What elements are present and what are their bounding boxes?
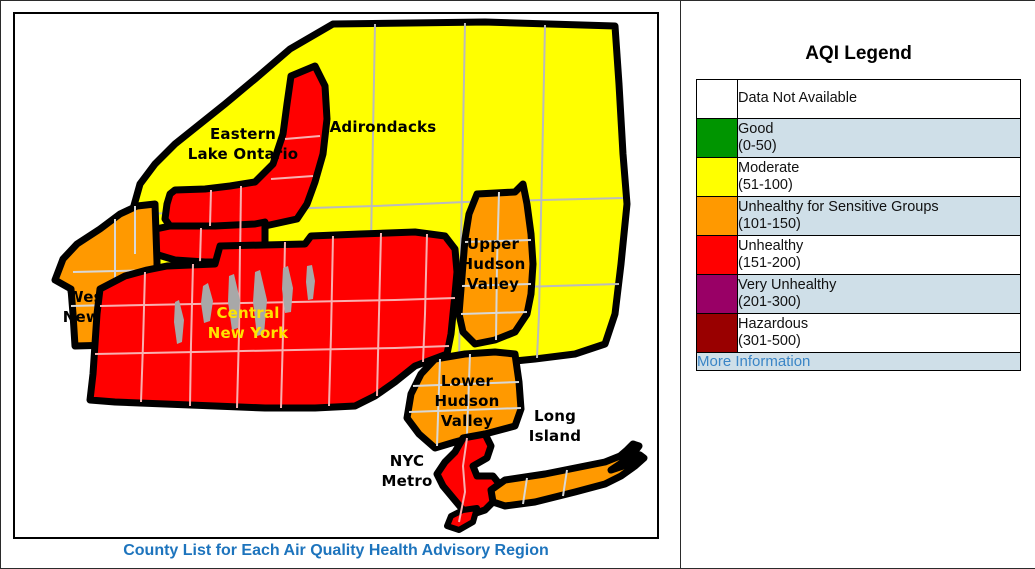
legend-range-good: (0-50) (738, 138, 1020, 156)
new-york-aqi-map[interactable]: Adirondacks Eastern Lake Ontario (15, 14, 657, 537)
county-list-link[interactable]: County List for Each Air Quality Health … (123, 542, 549, 559)
legend-swatch-moderate (697, 158, 738, 197)
legend-swatch-good (697, 119, 738, 158)
legend-desc-unhealthy: Unhealthy (151-200) (738, 236, 1021, 275)
legend-range-unhealthy-sensitive: (101-150) (738, 216, 1020, 234)
legend-swatch-data-not-available (697, 80, 738, 119)
lower-hudson-valley-label-line1: Lower (441, 372, 494, 390)
region-lower-hudson-valley[interactable]: Lower Hudson Valley (407, 352, 521, 448)
eastern-lake-ontario-label-line1: Eastern (210, 125, 276, 143)
more-information-cell[interactable]: More Information (697, 353, 1021, 371)
legend-desc-unhealthy-sensitive: Unhealthy for Sensitive Groups (101-150) (738, 197, 1021, 236)
legend-row-good[interactable]: Good (0-50) (697, 119, 1021, 158)
upper-hudson-valley-label-line1: Upper (467, 235, 520, 253)
map-caption[interactable]: County List for Each Air Quality Health … (13, 542, 659, 560)
long-island-label-line1: Long (534, 407, 576, 425)
legend-desc-hazardous: Hazardous (301-500) (738, 314, 1021, 353)
map-panel: Adirondacks Eastern Lake Ontario (1, 1, 681, 568)
region-upper-hudson-valley[interactable]: Upper Hudson Valley (459, 184, 533, 344)
central-new-york-label-line1: Central (216, 304, 279, 322)
legend-row-hazardous[interactable]: Hazardous (301-500) (697, 314, 1021, 353)
legend-swatch-hazardous (697, 314, 738, 353)
swatch-fill-good (697, 119, 737, 157)
legend-row-data-not-available[interactable]: Data Not Available (697, 80, 1021, 119)
legend-range-very-unhealthy: (201-300) (738, 294, 1020, 312)
legend-desc-data-not-available: Data Not Available (738, 80, 1021, 119)
legend-label-very-unhealthy: Very Unhealthy (738, 277, 1020, 295)
map-frame: Adirondacks Eastern Lake Ontario (13, 12, 659, 539)
swatch-fill-hazardous (697, 314, 737, 352)
legend-label-unhealthy-sensitive: Unhealthy for Sensitive Groups (738, 199, 1020, 217)
eastern-lake-ontario-label-line2: Lake Ontario (188, 145, 299, 163)
legend-desc-moderate: Moderate (51-100) (738, 158, 1021, 197)
legend-label-data-not-available: Data Not Available (738, 90, 1020, 108)
legend-row-very-unhealthy[interactable]: Very Unhealthy (201-300) (697, 275, 1021, 314)
legend-label-good: Good (738, 121, 1020, 139)
central-new-york-label-line2: New York (208, 324, 289, 342)
legend-label-hazardous: Hazardous (738, 316, 1020, 334)
legend-desc-good: Good (0-50) (738, 119, 1021, 158)
nyc-metro-label-line1: NYC (390, 452, 425, 470)
legend-swatch-unhealthy-sensitive (697, 197, 738, 236)
legend-row-moderate[interactable]: Moderate (51-100) (697, 158, 1021, 197)
legend-row-unhealthy[interactable]: Unhealthy (151-200) (697, 236, 1021, 275)
long-island-label-line2: Island (529, 427, 581, 445)
legend-title: AQI Legend (682, 43, 1035, 65)
nyc-metro-label-line2: Metro (382, 472, 433, 490)
legend-swatch-very-unhealthy (697, 275, 738, 314)
upper-hudson-valley-label-line3: Valley (467, 275, 519, 293)
swatch-fill-none (697, 80, 737, 118)
legend-panel: AQI Legend Data Not Available (682, 1, 1035, 568)
legend-desc-very-unhealthy: Very Unhealthy (201-300) (738, 275, 1021, 314)
legend-label-unhealthy: Unhealthy (738, 238, 1020, 256)
region-long-island-shape[interactable] (491, 444, 644, 506)
swatch-fill-unhealthy (697, 236, 737, 274)
legend-swatch-unhealthy (697, 236, 738, 275)
legend-range-unhealthy: (151-200) (738, 255, 1020, 273)
legend-row-unhealthy-sensitive[interactable]: Unhealthy for Sensitive Groups (101-150) (697, 197, 1021, 236)
legend-label-moderate: Moderate (738, 160, 1020, 178)
swatch-fill-moderate (697, 158, 737, 196)
legend-table: Data Not Available Good (0-50) (696, 79, 1021, 371)
legend-range-hazardous: (301-500) (738, 333, 1020, 351)
legend-row-more-information[interactable]: More Information (697, 353, 1021, 371)
upper-hudson-valley-label-line2: Hudson (460, 255, 525, 273)
legend-range-moderate: (51-100) (738, 177, 1020, 195)
lower-hudson-valley-label-line3: Valley (441, 412, 493, 430)
adirondacks-label: Adirondacks (330, 118, 437, 136)
swatch-fill-unhealthy-sensitive (697, 197, 737, 235)
aqi-map-page: Adirondacks Eastern Lake Ontario (0, 0, 1035, 569)
swatch-fill-very-unhealthy (697, 275, 737, 313)
more-information-link[interactable]: More Information (697, 353, 810, 370)
lower-hudson-valley-label-line2: Hudson (434, 392, 499, 410)
